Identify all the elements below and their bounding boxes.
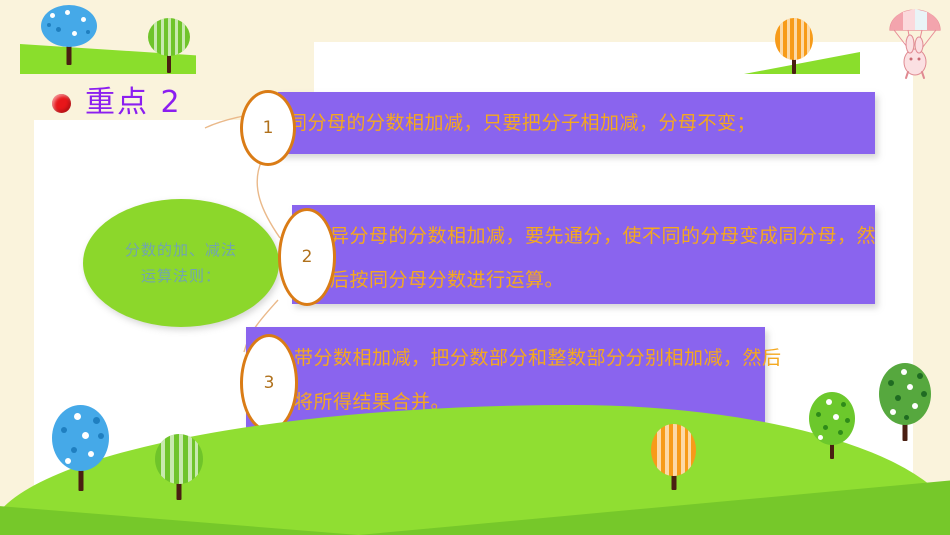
rule-number-3: 3 (240, 334, 298, 432)
tree-bottomright-orange-striped (651, 424, 696, 490)
tree-topright-orange-striped (775, 18, 813, 74)
tree-topleft-green-striped (148, 18, 190, 73)
rule-number-1: 1 (240, 90, 296, 166)
rule-text-2: 异分母的分数相加减，要先通分，使不同的分母变成同分母，然后按同分母分数进行运算。 (330, 214, 890, 302)
rule-number-2: 2 (278, 208, 336, 306)
topic-line-2: 运算法则： (141, 263, 221, 289)
page-title: 重点 2 (52, 88, 182, 118)
tree-bottomright-darkgreen-dotted (879, 363, 931, 441)
tree-bottomleft-blue-dotted (52, 405, 109, 487)
tree-topleft-blue-dotted (41, 5, 97, 67)
topic-line-1: 分数的加、减法 (125, 237, 237, 263)
tree-bottomleft-green-striped (155, 434, 203, 500)
tree-bottomright-green-dotted (809, 392, 855, 459)
topic-ellipse: 分数的加、减法 运算法则： (83, 199, 279, 327)
parachute-bunny-icon (884, 4, 946, 80)
bullet-dot-icon (52, 94, 71, 113)
title-label: 重点 2 (85, 88, 182, 118)
rule-text-1: 同分母的分数相加减，只要把分子相加减，分母不变； (288, 99, 908, 147)
slide-canvas: 重点 2 分数的加、减法 运算法则： 同分母的分数相加减，只要把分子相加减，分母… (0, 0, 950, 535)
